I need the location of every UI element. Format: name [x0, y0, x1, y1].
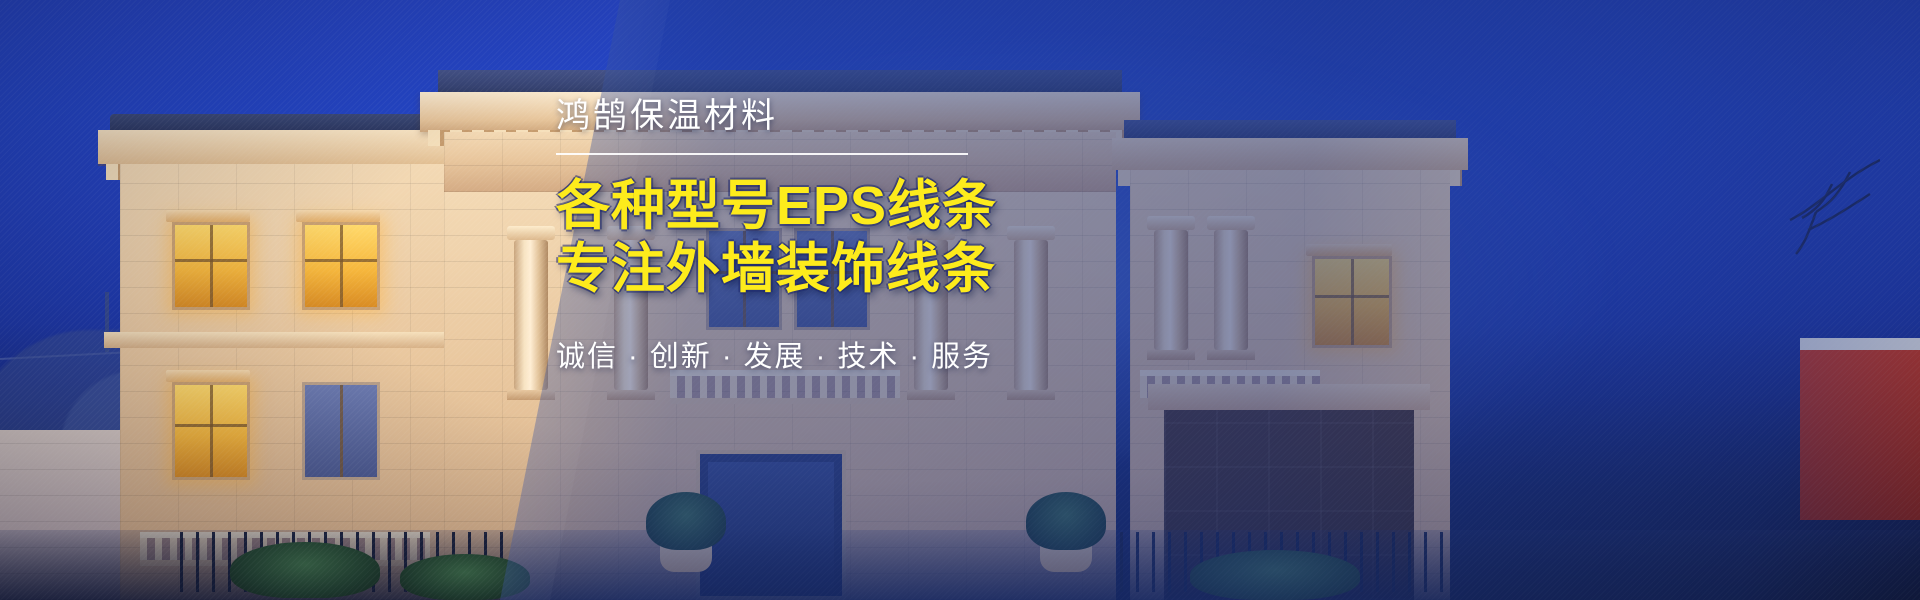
garage-lintel: [1148, 384, 1430, 410]
window-lit: [172, 382, 250, 480]
divider-rule: [556, 153, 968, 155]
hero-banner: 鸿鹄保温材料 各种型号EPS线条 专注外墙装饰线条 诚信 · 创新 · 发展 ·…: [0, 0, 1920, 600]
tagline: 诚信 · 创新 · 发展 · 技术 · 服务: [556, 333, 1026, 375]
window-dark: [302, 382, 380, 480]
window-head: [166, 370, 250, 382]
mansion-right-wing: [1130, 120, 1450, 600]
shrub: [1190, 550, 1360, 600]
column: [1154, 230, 1188, 350]
right-wing-roof: [1124, 120, 1456, 140]
left-wing-cornice: [98, 130, 472, 164]
right-wing-cornice: [1112, 138, 1468, 170]
window-lit: [172, 222, 250, 310]
shrub: [400, 554, 530, 600]
headline-line-2: 专注外墙装饰线条: [556, 238, 1026, 301]
window-mullion: [1351, 259, 1354, 345]
left-wing-string-course: [104, 332, 466, 348]
window-transom: [175, 259, 247, 262]
shrub: [1026, 492, 1106, 550]
headline-block: 各种型号EPS线条 专注外墙装饰线条: [556, 175, 1026, 301]
tree-branch-icon: [1720, 150, 1880, 300]
red-building-cap: [1800, 338, 1920, 350]
window-transom: [1315, 295, 1389, 298]
red-building: [1800, 350, 1920, 520]
shrub: [230, 542, 380, 598]
window-mullion: [340, 225, 343, 307]
window-head: [1306, 244, 1392, 256]
window-mullion: [210, 385, 213, 477]
banner-text-stack: 鸿鹄保温材料 各种型号EPS线条 专注外墙装饰线条 诚信 · 创新 · 发展 ·…: [556, 96, 1026, 375]
column: [1214, 230, 1248, 350]
window-mullion: [340, 385, 343, 477]
window-head: [166, 210, 250, 222]
window-head: [296, 210, 380, 222]
window-lit: [302, 222, 380, 310]
column: [514, 240, 548, 390]
window-lit: [1312, 256, 1392, 348]
company-name: 鸿鹄保温材料: [556, 96, 1026, 137]
window-transom: [175, 424, 247, 427]
headline-line-1: 各种型号EPS线条: [556, 175, 1026, 238]
shrub: [646, 492, 726, 550]
window-mullion: [210, 225, 213, 307]
window-transom: [305, 259, 377, 262]
